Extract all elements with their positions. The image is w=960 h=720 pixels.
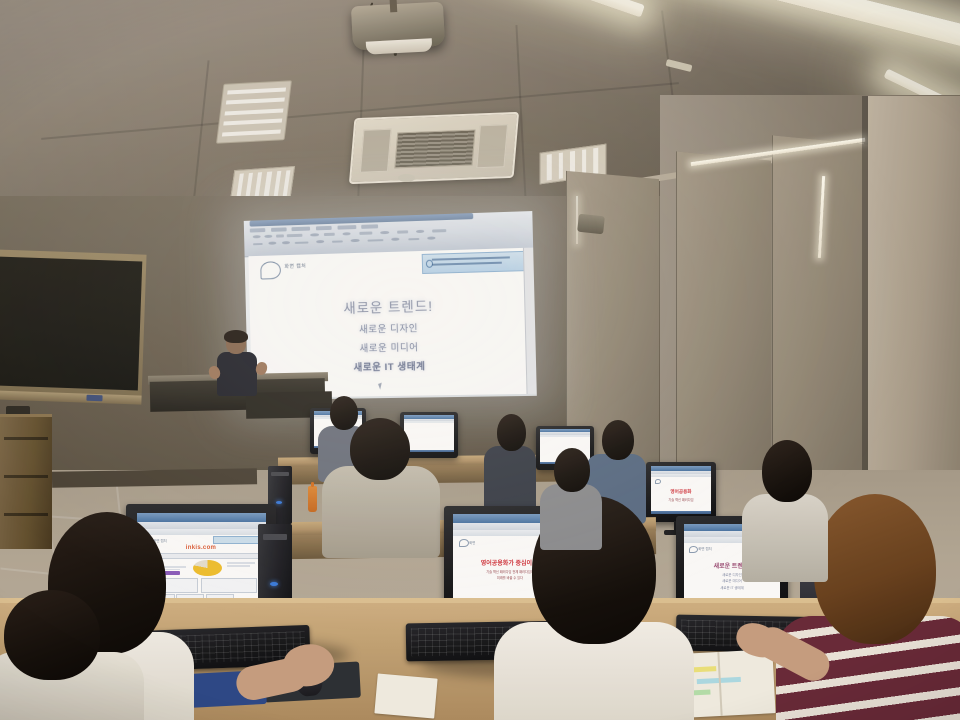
slide-icon: [689, 546, 699, 554]
ac-vent-left: [360, 129, 391, 173]
ac-grille: [394, 129, 476, 169]
monitor-slide-icon: [655, 479, 661, 484]
projector-mount: [389, 0, 397, 12]
chalkboard-frame: [0, 249, 147, 402]
chalkboard: [0, 257, 142, 391]
slide-icon-label: 화면 캡처: [284, 263, 306, 271]
head: [814, 494, 936, 644]
head: [554, 448, 590, 492]
slide-icon-label: 화면 캡처: [698, 546, 711, 551]
student-front-left-two: [0, 590, 130, 720]
head: [4, 590, 100, 680]
head: [497, 414, 526, 451]
slide-line-1: 새로운 디자인: [250, 317, 530, 337]
instructor-hair: [224, 330, 248, 343]
slide-line-2: 새로운 미디어: [251, 337, 531, 357]
slide-icon: [459, 539, 469, 547]
student-mid-gray-shirt: [322, 418, 440, 552]
notice-banner: [213, 536, 264, 544]
head: [350, 418, 410, 480]
back-right-monitor-heading: 영어공용화: [651, 489, 711, 495]
drink-bottle-1[interactable]: [308, 486, 317, 512]
head: [602, 420, 634, 460]
classroom-photo: 화면 캡처 새로운 트렌드! 새로운 디자인 새로운 미디어 새로운 IT 생태…: [0, 0, 960, 720]
content-row: [227, 565, 250, 567]
slide-icon-label: 화면: [469, 540, 475, 545]
head: [762, 440, 812, 502]
right-monitor-sub-3: 새로운 IT 생태계: [684, 585, 780, 590]
speech-bubble-icon: [260, 261, 281, 279]
slideshow-notice-box: [421, 251, 526, 273]
instructor-torso: [217, 352, 257, 396]
ceiling-air-vent-left: [216, 80, 292, 143]
chalkboard-eraser[interactable]: [87, 395, 103, 402]
torso: [540, 484, 602, 550]
smoke-detector: [398, 174, 415, 182]
paper-sheet[interactable]: [374, 673, 437, 718]
student-right-white-sweater: [742, 440, 828, 578]
projected-image: 화면 캡처 새로운 트렌드! 새로운 디자인 새로운 미디어 새로운 IT 생태…: [244, 211, 537, 400]
pie-chart: [193, 560, 221, 576]
ceiling-air-conditioner: [349, 112, 519, 184]
projection-screen: 화면 캡처 새로운 트렌드! 새로운 디자인 새로운 미디어 새로운 IT 생태…: [244, 211, 537, 400]
wall-speaker: [577, 214, 605, 235]
mouse-cursor: [378, 383, 384, 390]
ceiling-projector: [351, 2, 445, 51]
slide-title: 새로운 트렌드!: [250, 292, 530, 319]
ac-vent-right: [477, 124, 508, 168]
slide-text-block: 새로운 트렌드! 새로운 디자인 새로운 미디어 새로운 IT 생태계: [250, 292, 532, 375]
torso: [742, 494, 828, 582]
student-back-right-striped: [540, 448, 602, 544]
content-panel: [201, 578, 257, 593]
content-row: [227, 562, 255, 564]
instructor: [214, 332, 270, 394]
